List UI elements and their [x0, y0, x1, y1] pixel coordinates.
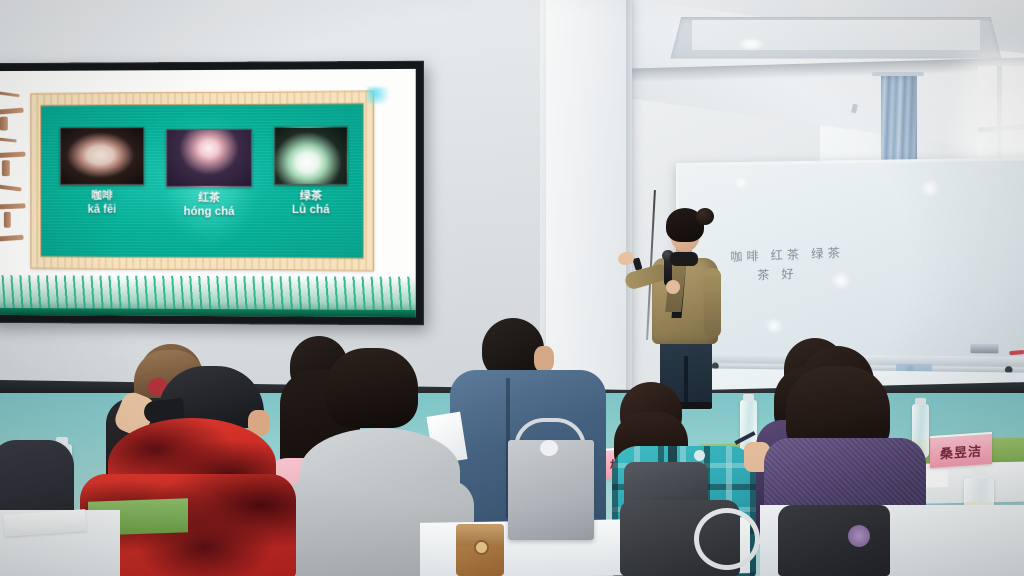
slide-item-black-tea: 红茶 hóng chá [161, 129, 257, 219]
teacher-left-hand [617, 250, 636, 266]
backpack-handle [694, 508, 760, 570]
slide-splash-decoration [367, 87, 393, 103]
teacher-right-arm [704, 268, 721, 338]
slide-bamboo-frame: 咖啡 kā fēi 红茶 hóng chá 绿茶 Lǜ chá [31, 91, 375, 272]
whiteboard-handwriting: 咖啡 红茶 绿茶 茶 好 [730, 243, 864, 288]
tote-flower-emblem-icon [848, 525, 870, 547]
ceiling-recess-inner [692, 20, 980, 50]
student-hair [326, 348, 418, 428]
slide-item-chinese: 咖啡 [55, 189, 149, 203]
slide-item-chinese: 绿茶 [265, 189, 357, 203]
slide-glow [162, 117, 259, 245]
slide-item-pinyin: kā fēi [55, 203, 149, 217]
handbag-clip-icon [540, 440, 558, 456]
teacher-turtleneck-collar [670, 252, 698, 266]
teacher-right-hand [666, 280, 680, 294]
slide-item-chinese: 红茶 [161, 191, 257, 205]
name-card-right[interactable]: 桑昱洁 [930, 432, 992, 468]
slide-item-green-tea: 绿茶 Lǜ chá [265, 126, 357, 217]
slide-tree-decoration [0, 87, 29, 256]
projection-screen-surface: 咖啡 kā fēi 红茶 hóng chá 绿茶 Lǜ chá [0, 69, 416, 317]
whiteboard-glare [763, 319, 785, 333]
slide-content-area: 咖啡 kā fēi 红茶 hóng chá 绿茶 Lǜ chá [40, 103, 364, 259]
green-tea-photo [274, 126, 347, 185]
projection-screen[interactable]: 咖啡 kā fēi 红茶 hóng chá 绿茶 Lǜ chá [0, 61, 424, 325]
whiteboard-glare [918, 181, 941, 197]
whiteboard-glare [733, 177, 749, 188]
whiteboard-eraser[interactable] [970, 344, 998, 354]
coffee-cup-photo [60, 127, 144, 185]
student-ear [534, 346, 554, 372]
slide-item-pinyin: Lǜ chá [265, 203, 357, 217]
bottle-cap [972, 469, 987, 479]
teacher-hair-bun [696, 208, 714, 225]
teacher[interactable] [612, 206, 740, 406]
black-tea-photo [166, 129, 252, 187]
brown-bag-buckle-icon [474, 540, 489, 555]
slide-grass-base [0, 308, 416, 317]
slide-item-coffee: 咖啡 kā fēi [55, 127, 149, 217]
jacket-button [694, 450, 705, 461]
slide-grass-border [0, 275, 416, 311]
slide-item-pinyin: hóng chá [161, 205, 257, 219]
ceiling-downlight-icon [738, 38, 764, 50]
name-card-text: 桑昱洁 [940, 440, 982, 462]
dark-tote-bag[interactable] [778, 505, 890, 576]
classroom-scene: 咖啡 kā fēi 红茶 hóng chá 绿茶 Lǜ chá [0, 0, 1024, 576]
